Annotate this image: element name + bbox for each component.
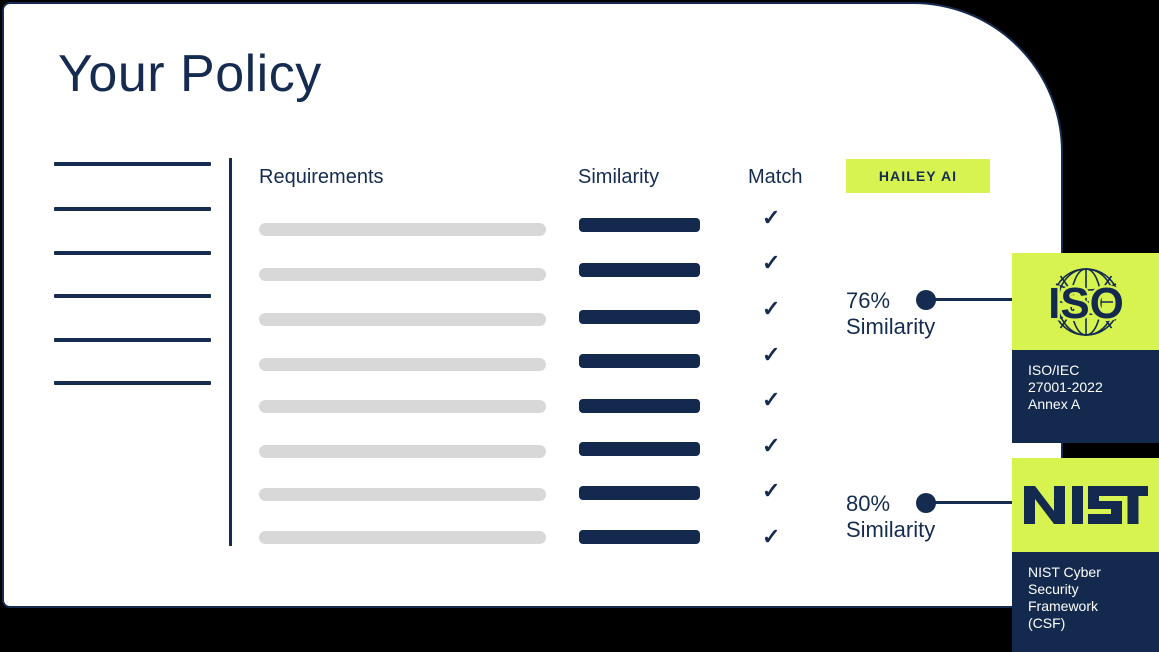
standard-card-nist[interactable]: NIST Cyber Security Framework (CSF) [1012,458,1159,652]
callout-connector-dot [916,290,936,310]
similarity-bar [579,218,700,232]
iso-caption: ISO/IEC 27001-2022 Annex A [1028,362,1145,413]
callout-connector-dot [916,493,936,513]
similarity-bar [579,442,700,456]
match-check-icon: ✓ [762,480,780,502]
callout-connector-line [934,298,1014,301]
similarity-bar [579,486,700,500]
requirement-bar [259,313,546,326]
requirement-bar [259,445,546,458]
similarity-bar [579,399,700,413]
iso-logo: ISO [1026,265,1146,339]
nist-caption: NIST Cyber Security Framework (CSF) [1028,564,1145,632]
match-check-icon: ✓ [762,389,780,411]
match-check-icon: ✓ [762,344,780,366]
match-check-icon: ✓ [762,435,780,457]
requirement-bar [259,531,546,544]
iso-caption-area: ISO/IEC 27001-2022 Annex A [1012,350,1159,443]
match-check-icon: ✓ [762,207,780,229]
requirement-bar [259,268,546,281]
match-check-icon: ✓ [762,252,780,274]
match-check-icon: ✓ [762,526,780,548]
nist-caption-area: NIST Cyber Security Framework (CSF) [1012,552,1159,652]
iso-logo-area: ISO [1012,253,1159,350]
svg-text:ISO: ISO [1048,279,1124,328]
similarity-callout-iso: 76% Similarity [846,288,1016,348]
callout-connector-line [934,501,1014,504]
similarity-callout-nist: 80% Similarity [846,491,1016,551]
similarity-bar [579,263,700,277]
match-check-icon: ✓ [762,298,780,320]
nist-logo-area [1012,458,1159,552]
requirement-bar [259,488,546,501]
requirement-bar [259,400,546,413]
requirement-bar [259,358,546,371]
standard-card-iso[interactable]: ISO ISO/IEC 27001-2022 Annex A [1012,253,1159,443]
nist-logo [1022,482,1150,528]
similarity-bar [579,530,700,544]
similarity-bar [579,310,700,324]
requirement-bar [259,223,546,236]
table-row[interactable]: ✓ [0,0,1159,30]
similarity-bar [579,354,700,368]
